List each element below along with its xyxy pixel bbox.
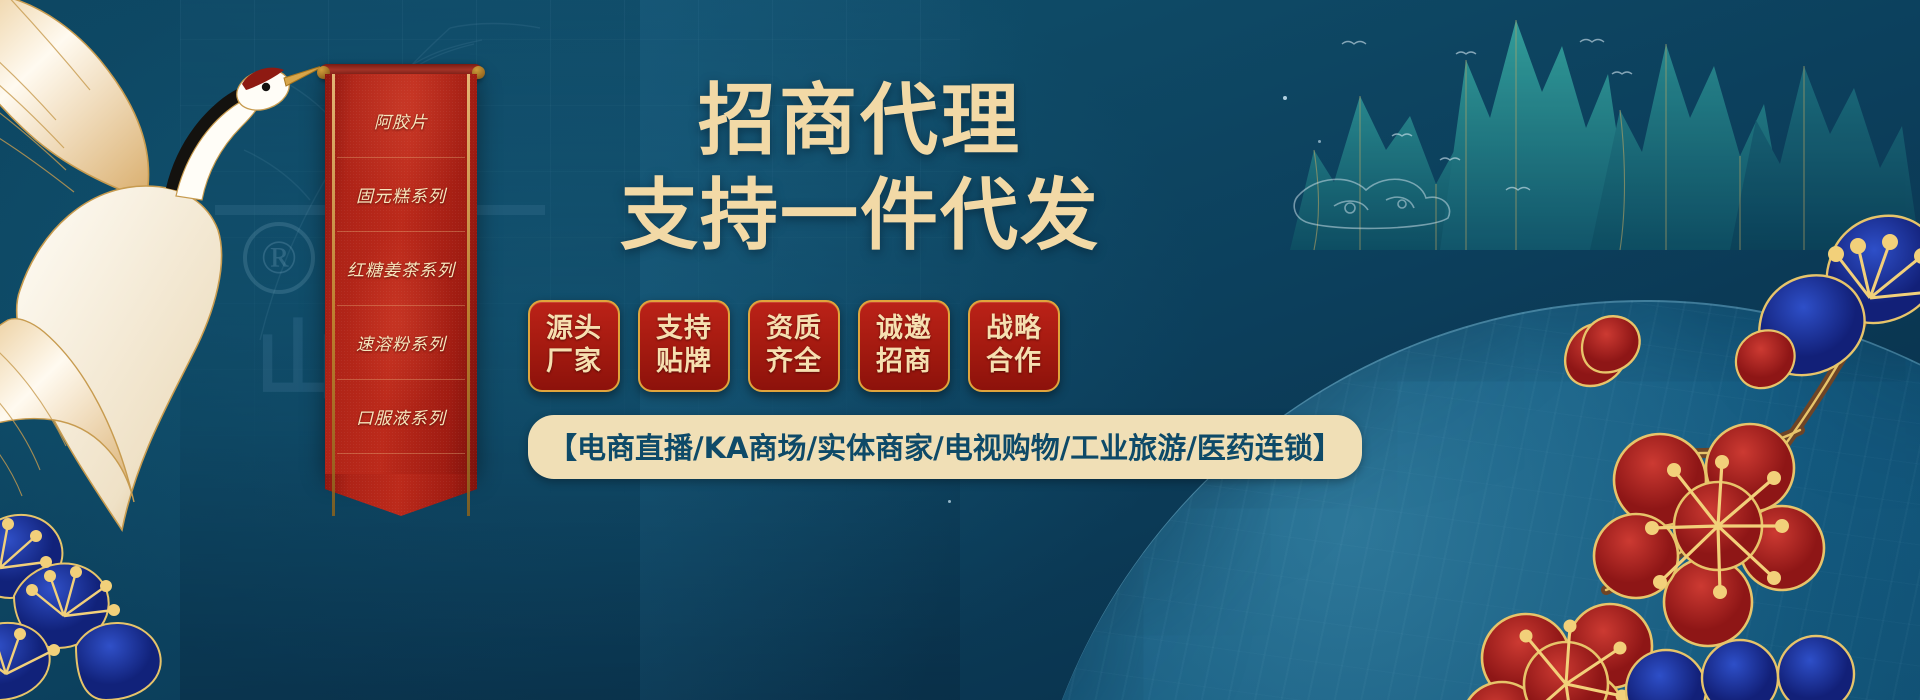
- sparkle: [1318, 140, 1321, 143]
- badge-line-top: 战略: [986, 313, 1042, 346]
- channels-pill: 【电商直播/KA商场/实体商家/电视购物/工业旅游/医药连锁】: [528, 415, 1362, 479]
- feature-badge-0[interactable]: 源头 厂家: [528, 300, 620, 392]
- badge-line-bottom: 厂家: [546, 346, 602, 379]
- sparkle: [948, 500, 951, 503]
- feature-badge-2[interactable]: 资质 齐全: [748, 300, 840, 392]
- badge-line-top: 源头: [546, 313, 602, 346]
- product-list: 阿胶片 固元糕系列 红糖姜茶系列 速溶粉系列 口服液系列: [337, 84, 465, 554]
- headline-block: 招商代理 支持一件代发: [600, 80, 1120, 257]
- badge-line-top: 诚邀: [876, 313, 932, 346]
- scroll-edge-left: [332, 74, 335, 516]
- badge-line-bottom: 合作: [986, 346, 1042, 379]
- badge-line-bottom: 贴牌: [656, 346, 712, 379]
- product-item-1[interactable]: 固元糕系列: [337, 158, 465, 232]
- feature-badge-3[interactable]: 诚邀 招商: [858, 300, 950, 392]
- right-plum-blossom-branch: [1330, 150, 1920, 700]
- feature-badge-4[interactable]: 战略 合作: [968, 300, 1060, 392]
- product-scroll-panel: 阿胶片 固元糕系列 红糖姜茶系列 速溶粉系列 口服液系列: [325, 64, 477, 512]
- badge-line-bottom: 齐全: [766, 346, 822, 379]
- scroll-edge-right: [467, 74, 470, 516]
- plum-bud: [1565, 316, 1639, 386]
- badge-line-bottom: 招商: [876, 346, 932, 379]
- sparkle: [1283, 96, 1287, 100]
- product-item-2[interactable]: 红糖姜茶系列: [337, 232, 465, 306]
- left-blue-plum-blossoms: [0, 400, 280, 700]
- feature-badge-row: 源头 厂家 支持 贴牌 资质 齐全 诚邀 招商 战略 合作: [528, 300, 1060, 392]
- product-item-4[interactable]: 口服液系列: [337, 380, 465, 454]
- badge-line-top: 支持: [656, 313, 712, 346]
- badge-line-top: 资质: [766, 313, 822, 346]
- promo-banner: ® 山东: [0, 0, 1920, 700]
- product-item-3[interactable]: 速溶粉系列: [337, 306, 465, 380]
- feature-badge-1[interactable]: 支持 贴牌: [638, 300, 730, 392]
- headline-line-1: 招商代理: [600, 80, 1120, 163]
- headline-line-2: 支持一件代发: [600, 175, 1120, 258]
- product-item-0[interactable]: 阿胶片: [337, 84, 465, 158]
